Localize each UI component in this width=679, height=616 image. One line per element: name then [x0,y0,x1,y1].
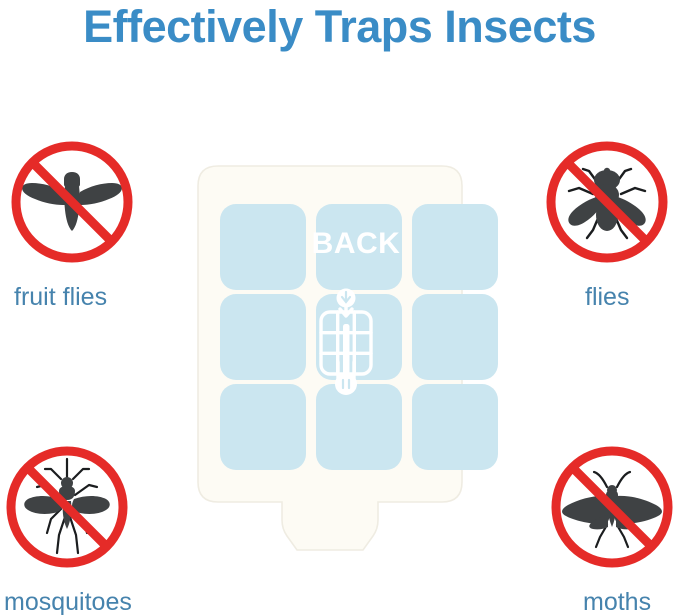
tile-6 [412,294,498,380]
tile-3 [412,204,498,290]
badge-label-fruit-flies: fruit flies [14,283,184,311]
glue-trap-card-graphic [160,158,520,553]
glue-trap-refill-card: BACK [160,158,520,553]
badge-label-mosquitoes: mosquitoes [4,588,174,616]
no-mosquito-icon [3,443,131,571]
badge-label-flies: flies [585,283,679,311]
badge-icon-wrap-flies [534,138,679,268]
tile-9 [412,384,498,470]
tile-5 [316,294,402,380]
tile-7 [220,384,306,470]
tile-8 [316,384,402,470]
badge-mosquitoes: mosquitoes [0,443,160,573]
tile-4 [220,294,306,380]
badge-moths: moths [534,443,679,573]
badge-icon-wrap-mosquitoes [0,443,160,573]
badge-label-moths: moths [583,588,679,616]
tile-2 [316,204,402,290]
badge-flies: flies [534,138,679,268]
badge-icon-wrap-moths [534,443,679,573]
tile-1 [220,204,306,290]
tile-grid [220,204,498,470]
badge-fruit-flies: fruit flies [0,138,160,268]
no-fruit-fly-icon [8,138,136,266]
no-moth-icon [548,443,676,571]
badge-icon-wrap-fruit-flies [0,138,160,268]
page-title: Effectively Traps Insects [0,0,679,54]
no-fly-icon [543,138,671,266]
